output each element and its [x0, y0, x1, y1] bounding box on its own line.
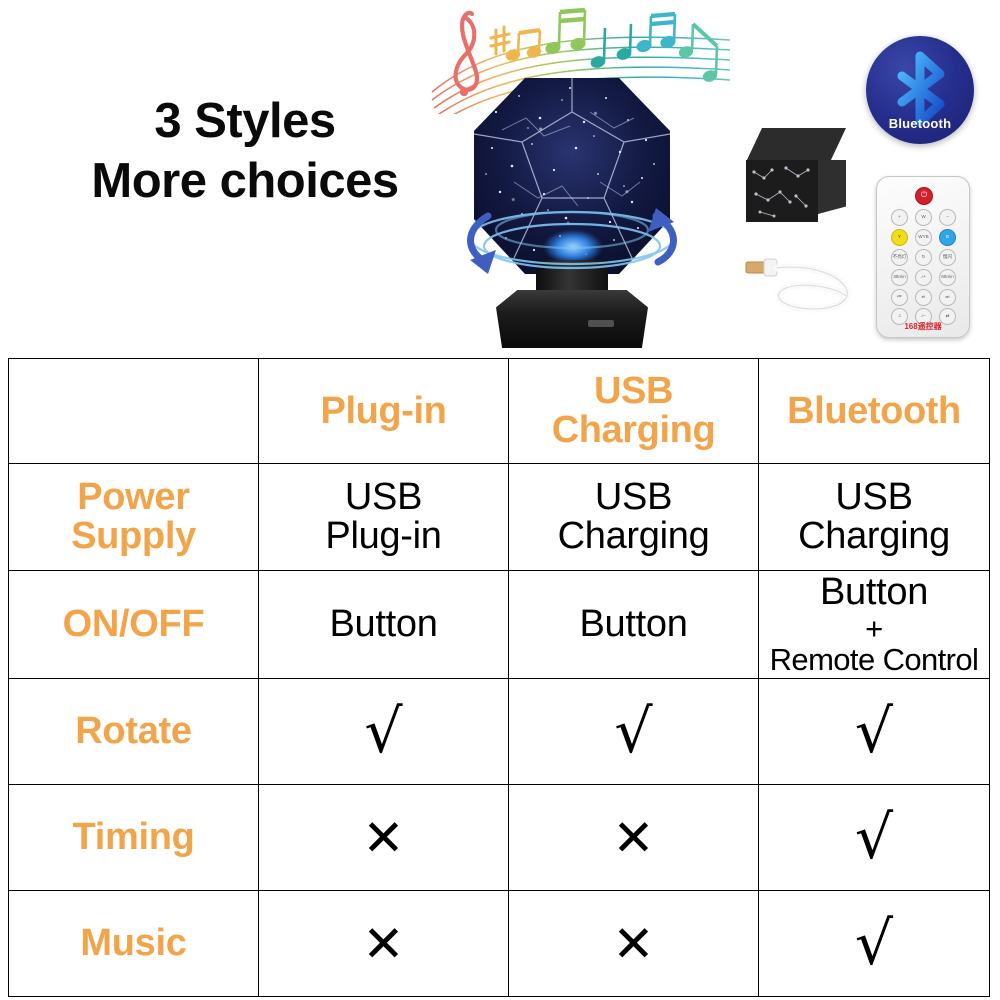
table-row: ON/OFF Button Button Button + Remote Con… — [9, 571, 990, 679]
row-label-music-text: Music — [80, 922, 186, 964]
remote-timer-60min-button[interactable]: 60min — [939, 269, 956, 286]
lamp-base — [496, 290, 648, 348]
cell-power-bt-line1: USB — [835, 476, 912, 518]
cell-timing-bluetooth: √ — [759, 785, 990, 891]
header-plug-in-label: Plug-in — [321, 390, 447, 432]
row-label-power-line1: Power — [77, 476, 190, 518]
table-header-row: Plug-in USB Charging Bluetooth — [9, 359, 990, 464]
cell-onoff-bluetooth: Button + Remote Control — [759, 571, 990, 679]
cell-power-plug-in-line1: USB — [345, 476, 422, 518]
remote-timer-30min-button[interactable]: 30min — [891, 269, 908, 286]
row-label-music: Music — [9, 891, 259, 997]
hero-banner: 3 Styles More choices — [0, 0, 1000, 358]
header-cell-empty — [9, 359, 259, 464]
cross-icon: ✕ — [613, 915, 655, 973]
header-bluetooth-label: Bluetooth — [787, 390, 961, 432]
page-title: 3 Styles More choices — [45, 96, 445, 208]
remote-next-track-button[interactable]: ⏭ — [939, 289, 956, 306]
row-label-rotate: Rotate — [9, 679, 259, 785]
cell-power-plug-in: USB Plug-in — [259, 464, 509, 571]
box-top-face — [746, 128, 846, 162]
cell-onoff-bt-line1: Button — [820, 571, 928, 613]
lamp-usb-port — [588, 320, 614, 327]
cell-power-bluetooth: USB Charging — [759, 464, 990, 571]
check-icon: √ — [364, 697, 402, 767]
remote-model-label: 168遥控器 — [877, 321, 969, 332]
remote-plus-button[interactable]: + — [891, 209, 908, 226]
row-label-timing-text: Timing — [72, 816, 194, 858]
cell-timing-plug-in: ✕ — [259, 785, 509, 891]
remote-b-button[interactable]: B — [939, 229, 956, 246]
cell-onoff-bt-plus: + — [761, 613, 987, 644]
remote-minus-button[interactable]: − — [939, 209, 956, 226]
cell-onoff-bt-remote: Remote Control — [761, 644, 987, 676]
remote-rotate-button[interactable]: ↻ — [915, 249, 932, 266]
table-row: Rotate √ √ √ — [9, 679, 990, 785]
header-usb-line2: Charging — [552, 409, 716, 451]
cell-rotate-plug-in: √ — [259, 679, 509, 785]
cell-onoff-usb-charging: Button — [509, 571, 759, 679]
remote-y-button[interactable]: Y — [891, 229, 908, 246]
star-projector-lamp — [452, 78, 692, 350]
cell-power-usb-charging: USB Charging — [509, 464, 759, 571]
cell-music-usb-charging: ✕ — [509, 891, 759, 997]
comparison-table: Plug-in USB Charging Bluetooth Power Sup… — [8, 358, 990, 997]
cross-icon: ✕ — [613, 809, 655, 867]
row-label-power-supply: Power Supply — [9, 464, 259, 571]
cell-onoff-usb-text: Button — [579, 603, 687, 645]
row-label-on-off-text: ON/OFF — [63, 603, 205, 645]
box-constellation-print — [746, 160, 818, 222]
box-front-face — [746, 160, 818, 222]
table-row: Music ✕ ✕ √ — [9, 891, 990, 997]
product-box — [738, 128, 854, 226]
header-usb-line1: USB — [594, 370, 673, 412]
cell-rotate-bluetooth: √ — [759, 679, 990, 785]
cell-music-bluetooth: √ — [759, 891, 990, 997]
usb-cable — [742, 246, 862, 318]
rotation-arrows-icon — [452, 186, 692, 296]
cell-power-bt-line2: Charging — [798, 515, 950, 557]
cell-onoff-plug-in: Button — [259, 571, 509, 679]
bluetooth-badge: Bluetooth — [866, 36, 974, 144]
cross-icon: ✕ — [363, 915, 405, 973]
remote-control: ⏻ + W − Y WYB B 不亮灯 ↻ 慢闪 30min ♪+ 60min … — [876, 176, 970, 338]
check-icon: √ — [855, 803, 893, 873]
cell-onoff-plug-in-text: Button — [329, 603, 437, 645]
check-icon: √ — [855, 697, 893, 767]
box-side-face — [818, 160, 846, 214]
remote-no-light-button[interactable]: 不亮灯 — [891, 249, 908, 266]
cross-icon: ✕ — [363, 809, 405, 867]
remote-wyb-button[interactable]: WYB — [915, 229, 932, 246]
table-row: Power Supply USB Plug-in USB Charging US… — [9, 464, 990, 571]
cell-power-usb-line1: USB — [595, 476, 672, 518]
cell-music-plug-in: ✕ — [259, 891, 509, 997]
check-icon: √ — [614, 697, 652, 767]
remote-slow-flash-button[interactable]: 慢闪 — [939, 249, 956, 266]
cell-power-plug-in-line2: Plug-in — [325, 515, 441, 557]
cell-rotate-usb-charging: √ — [509, 679, 759, 785]
header-cell-bluetooth: Bluetooth — [759, 359, 990, 464]
remote-previous-track-button[interactable]: ⏮ — [891, 289, 908, 306]
headline-line-2: More choices — [45, 156, 445, 208]
remote-play-pause-button[interactable]: ⏯ — [915, 289, 932, 306]
remote-volume-up-button[interactable]: ♪+ — [915, 269, 932, 286]
row-label-on-off: ON/OFF — [9, 571, 259, 679]
row-label-power-line2: Supply — [71, 515, 196, 557]
remote-w-button[interactable]: W — [915, 209, 932, 226]
row-label-rotate-text: Rotate — [75, 710, 191, 752]
cell-timing-usb-charging: ✕ — [509, 785, 759, 891]
header-cell-usb-charging: USB Charging — [509, 359, 759, 464]
check-icon: √ — [855, 909, 893, 979]
header-cell-plug-in: Plug-in — [259, 359, 509, 464]
row-label-timing: Timing — [9, 785, 259, 891]
remote-power-button[interactable]: ⏻ — [915, 187, 933, 205]
bluetooth-badge-label: Bluetooth — [866, 116, 974, 131]
headline-line-1: 3 Styles — [45, 96, 445, 148]
table-row: Timing ✕ ✕ √ — [9, 785, 990, 891]
cell-power-usb-line2: Charging — [558, 515, 710, 557]
